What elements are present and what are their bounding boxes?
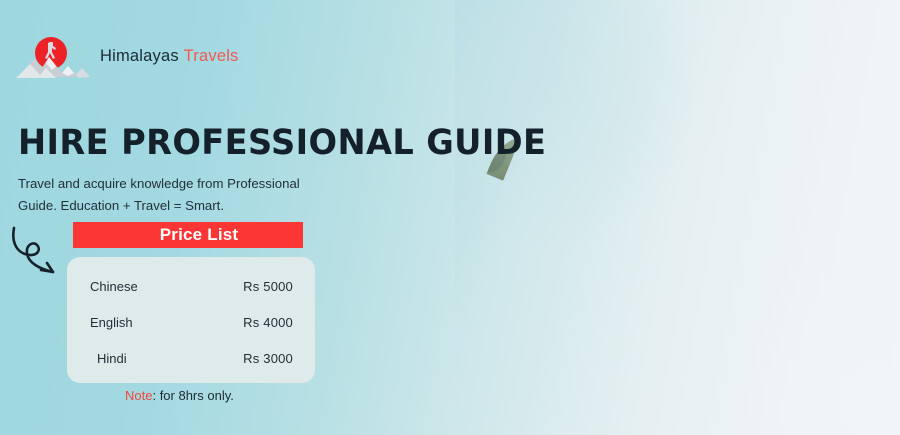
price-note-keyword: Note [125, 388, 152, 403]
price-row-amount: Rs 4000 [243, 315, 293, 330]
brand-name-accent: Travels [184, 47, 239, 65]
price-list-card: Chinese Rs 5000 English Rs 4000 Hindi Rs… [67, 257, 315, 383]
price-row-amount: Rs 5000 [243, 279, 293, 294]
brand-logo[interactable]: Himalayas Travels [16, 33, 239, 79]
hero-photo-collage [455, 0, 900, 435]
price-list-banner-label: Price List [160, 225, 239, 245]
brand-name-primary: Himalayas [100, 47, 179, 65]
price-note-text: : for 8hrs only. [152, 388, 233, 403]
page-title: HIRE PROFESSIONAL GUIDE [18, 126, 546, 161]
price-row: English Rs 4000 [89, 315, 293, 330]
curly-arrow-icon [8, 222, 70, 284]
price-note: Note: for 8hrs only. [125, 388, 234, 403]
hero-subcopy: Travel and acquire knowledge from Profes… [18, 173, 348, 216]
price-row-language: English [89, 315, 133, 330]
travel-ad-banner: Himalayas Travels HIRE PROFESSIONAL GUID… [0, 0, 900, 435]
price-row-language: Hindi [89, 351, 127, 366]
price-row: Chinese Rs 5000 [89, 279, 293, 294]
content-column: Himalayas Travels HIRE PROFESSIONAL GUID… [0, 0, 470, 435]
brand-name: Himalayas Travels [100, 47, 239, 66]
price-row-language: Chinese [89, 279, 138, 294]
price-list-banner: Price List [73, 222, 303, 248]
price-row: Hindi Rs 3000 [89, 351, 293, 366]
mountain-sun-logo-icon [16, 33, 90, 79]
price-row-amount: Rs 3000 [243, 351, 293, 366]
